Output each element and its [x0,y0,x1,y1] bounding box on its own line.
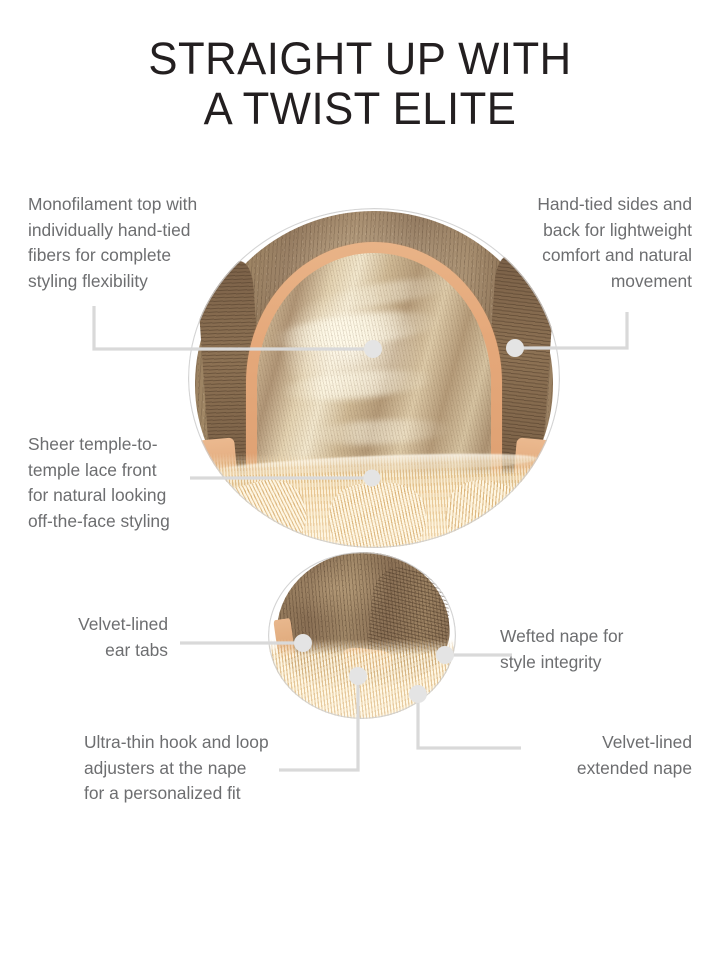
annotation-extended-nape: Velvet-lined extended nape [470,730,692,781]
product-cap-construction-page: STRAIGHT UP WITH A TWIST ELITE [0,0,720,960]
wig-cap-nape-illustration [268,552,456,719]
annotation-monofilament-top: Monofilament top with individually hand-… [28,192,238,294]
hair-highlight-sweep [270,305,441,356]
annotation-ear-tabs: Velvet-lined ear tabs [0,612,168,663]
page-title: STRAIGHT UP WITH A TWIST ELITE [0,34,720,134]
page-title-line-1: STRAIGHT UP WITH [11,34,709,84]
wig-cap-nape-image [268,552,456,719]
annotation-lace-front: Sheer temple-to- temple lace front for n… [28,432,228,534]
hair-tuft [328,482,427,548]
annotation-hook-and-loop: Ultra-thin hook and loop adjusters at th… [84,730,326,807]
page-title-line-2: A TWIST ELITE [11,84,709,134]
hair-highlight-sweep [279,366,435,406]
annotation-hand-tied-sides: Hand-tied sides and back for lightweight… [476,192,692,294]
hair-highlight-sweep [326,272,454,313]
annotation-wefted-nape: Wefted nape for style integrity [500,624,696,675]
nape-hair-fringe [268,639,456,719]
hair-highlight-sweep [308,416,454,447]
